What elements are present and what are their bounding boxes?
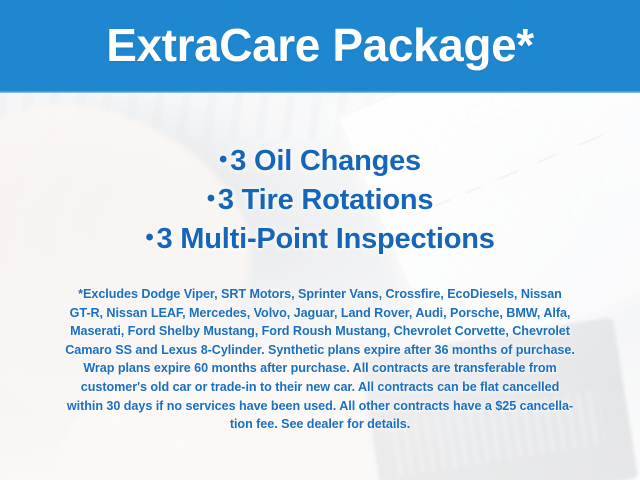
benefit-item-oil-changes: •3 Oil Changes: [0, 141, 640, 180]
disclaimer-line: GT-R, Nissan LEAF, Mercedes, Volvo, Jagu…: [28, 304, 612, 323]
benefit-label: 3 Oil Changes: [230, 145, 421, 177]
disclaimer-line: tion fee. See dealer for details.: [28, 415, 612, 434]
disclaimer-line: Wrap plans expire 60 months after purcha…: [28, 359, 612, 378]
disclaimer-text: *Excludes Dodge Viper, SRT Motors, Sprin…: [28, 285, 612, 434]
bullet-icon: •: [207, 185, 215, 212]
extracare-package-ad: ExtraCare Package* •3 Oil Changes •3 Tir…: [0, 0, 640, 480]
disclaimer-line: Camaro SS and Lexus 8-Cylinder. Syntheti…: [28, 341, 612, 360]
bullet-icon: •: [145, 224, 153, 251]
benefit-item-tire-rotations: •3 Tire Rotations: [0, 180, 640, 219]
benefits-list: •3 Oil Changes •3 Tire Rotations •3 Mult…: [0, 141, 640, 258]
page-title: ExtraCare Package*: [106, 22, 534, 68]
banner-accent-rule: [0, 89, 640, 93]
bullet-icon: •: [219, 146, 227, 173]
benefit-label: 3 Multi-Point Inspections: [157, 223, 495, 255]
header-banner: ExtraCare Package*: [0, 0, 640, 89]
main-content: •3 Oil Changes •3 Tire Rotations •3 Mult…: [0, 93, 640, 480]
benefit-label: 3 Tire Rotations: [218, 184, 433, 216]
disclaimer-line: within 30 days if no services have been …: [28, 397, 612, 416]
disclaimer-line: customer's old car or trade-in to their …: [28, 378, 612, 397]
disclaimer-line: Maserati, Ford Shelby Mustang, Ford Rous…: [28, 322, 612, 341]
disclaimer-line: *Excludes Dodge Viper, SRT Motors, Sprin…: [28, 285, 612, 304]
benefit-item-multi-point-inspections: •3 Multi-Point Inspections: [0, 219, 640, 258]
